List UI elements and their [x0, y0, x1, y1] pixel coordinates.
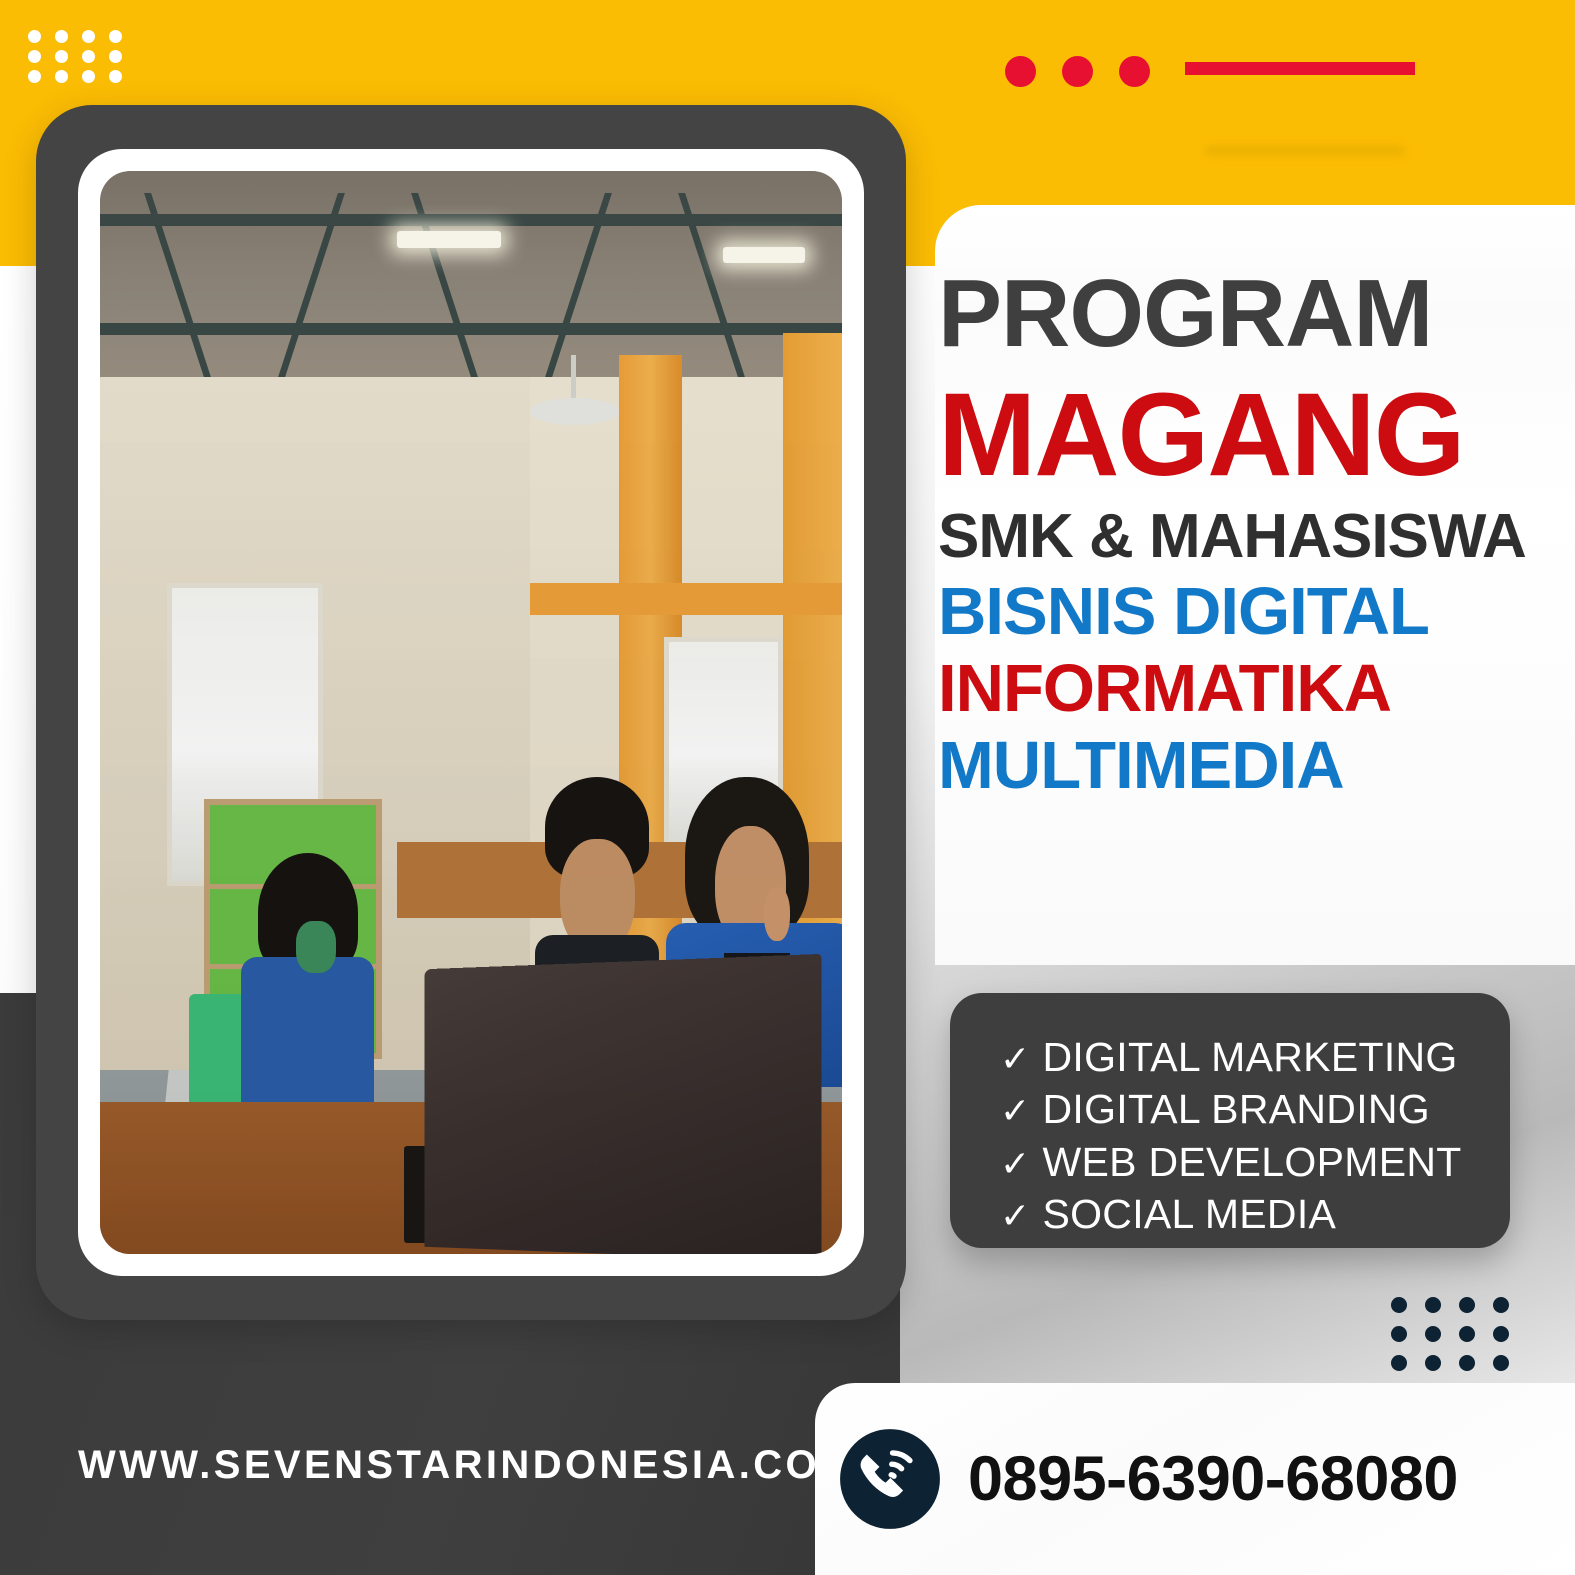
service-label: DIGITAL BRANDING — [1042, 1083, 1430, 1135]
service-label: DIGITAL MARKETING — [1042, 1031, 1457, 1083]
photo-frame — [78, 149, 864, 1276]
phone-card[interactable]: 0895-6390-68080 — [815, 1383, 1575, 1575]
check-icon: ✓ — [1000, 1141, 1030, 1187]
service-item: ✓ DIGITAL BRANDING — [1000, 1083, 1510, 1135]
headline-multimedia: MULTIMEDIA — [938, 732, 1575, 799]
headline-bisnis-digital: BISNIS DIGITAL — [938, 578, 1575, 645]
check-icon: ✓ — [1000, 1088, 1030, 1134]
website-url[interactable]: WWW.SEVENSTARINDONESIA.COM — [78, 1443, 857, 1488]
dot-grid-bottomright-icon — [1391, 1297, 1527, 1384]
service-label: WEB DEVELOPMENT — [1042, 1136, 1461, 1188]
photo-tint — [100, 171, 842, 1254]
service-label: SOCIAL MEDIA — [1042, 1188, 1336, 1240]
services-box: ✓ DIGITAL MARKETING ✓ DIGITAL BRANDING ✓… — [950, 993, 1510, 1248]
service-item: ✓ DIGITAL MARKETING — [1000, 1031, 1510, 1083]
phone-ringing-icon — [838, 1427, 942, 1531]
classroom-photo — [100, 171, 842, 1254]
headline-informatika: INFORMATIKA — [938, 655, 1575, 722]
poster: PROGRAM MAGANG SMK & MAHASISWA BISNIS DI… — [0, 0, 1575, 1575]
phone-number[interactable]: 0895-6390-68080 — [968, 1443, 1458, 1515]
check-icon: ✓ — [1000, 1036, 1030, 1082]
red-dots-icon — [1005, 56, 1150, 87]
olive-bar-icon — [1205, 145, 1405, 156]
service-item: ✓ WEB DEVELOPMENT — [1000, 1136, 1510, 1188]
headline-smk-mahasiswa: SMK & MAHASISWA — [938, 506, 1575, 568]
photo-card — [36, 105, 906, 1320]
dot-grid-topleft-icon — [28, 30, 136, 90]
service-item: ✓ SOCIAL MEDIA — [1000, 1188, 1510, 1240]
headline-program: PROGRAM — [938, 266, 1575, 362]
red-bar-icon — [1185, 62, 1415, 75]
headline-magang: MAGANG — [938, 376, 1575, 494]
headline-block: PROGRAM MAGANG SMK & MAHASISWA BISNIS DI… — [938, 266, 1575, 799]
check-icon: ✓ — [1000, 1193, 1030, 1239]
